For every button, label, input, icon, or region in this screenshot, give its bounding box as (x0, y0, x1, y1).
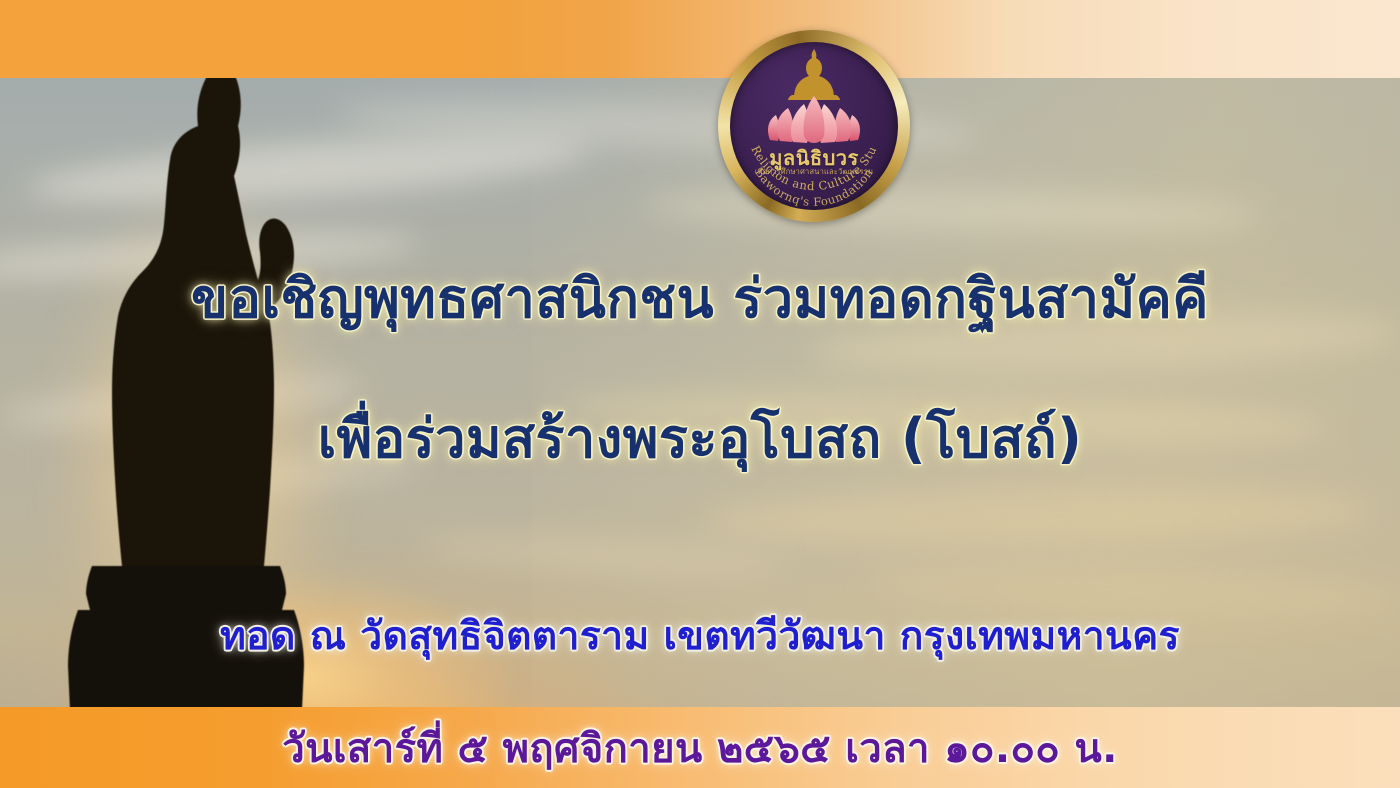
poster-canvas: มูลนิธิบวร เพื่อการศึกษาศาสนาและวัฒนธรรม… (0, 0, 1400, 788)
logo-arc-top-text: Bawornq's Foundation (752, 166, 876, 210)
datetime-line: วันเสาร์ที่ ๕ พฤศจิกายน ๒๕๖๕ เวลา ๑๐.๐๐ … (0, 716, 1400, 780)
logo-inner-field: มูลนิธิบวร เพื่อการศึกษาศาสนาและวัฒนธรรม… (730, 42, 898, 210)
headline-line-1: ขอเชิญพุทธศาสนิกชน ร่วมทอดกฐินสามัคคี (0, 272, 1400, 326)
seated-buddha-icon (786, 49, 842, 101)
logo-english-arc: Bawornq's Foundation For Religion and Cu… (730, 42, 898, 210)
standing-buddha-statue-icon (30, 10, 360, 788)
foundation-logo: มูลนิธิบวร เพื่อการศึกษาศาสนาและวัฒนธรรม… (718, 30, 910, 222)
lotus-flower-icon (766, 94, 862, 144)
headline-line-2: เพื่อร่วมสร้างพระอุโบสถ (โบสถ์) (0, 412, 1400, 466)
background-photo (0, 0, 1400, 788)
logo-arc-bottom-text: For Religion and Culture Studies (730, 42, 879, 193)
buddha-statue-silhouette (30, 10, 360, 788)
top-orange-band (0, 0, 1400, 78)
venue-line: ทอด ณ วัดสุทธิจิตตาราม เขตทวีวัฒนา กรุงเ… (0, 605, 1400, 667)
logo-thai-name: มูลนิธิบวร (730, 142, 898, 174)
logo-thai-subtitle: เพื่อการศึกษาศาสนาและวัฒนธรรม (730, 166, 898, 178)
